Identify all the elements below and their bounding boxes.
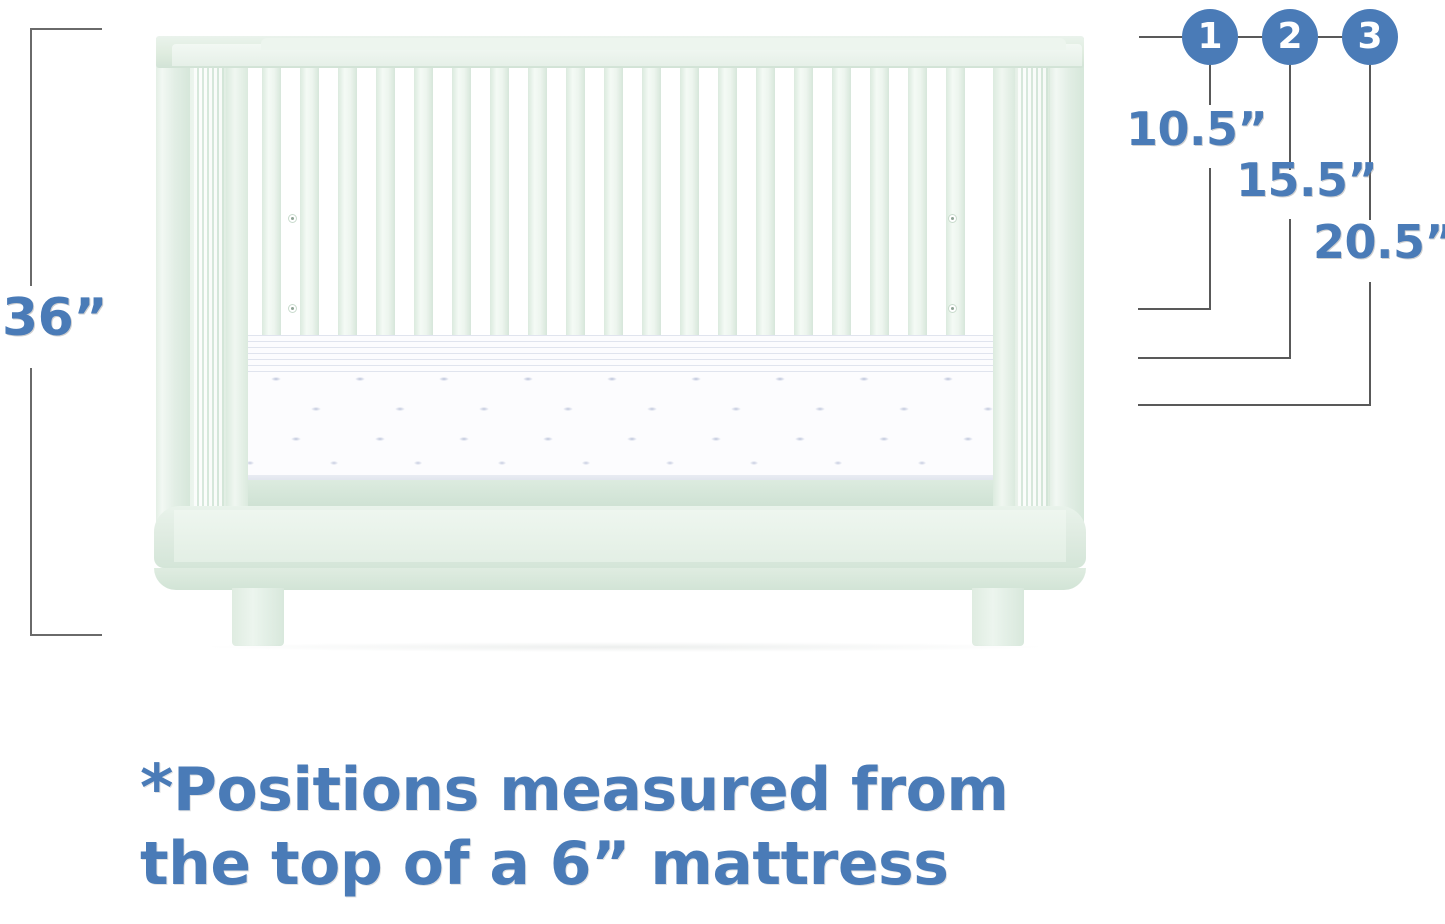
position-2-leader-vertical bbox=[1289, 219, 1291, 359]
crib-base-rail-seam bbox=[154, 568, 1086, 590]
footnote-line-2: the top of a 6” mattress bbox=[140, 829, 948, 899]
crib-leg-right bbox=[972, 588, 1024, 646]
position-1-drop-line bbox=[1209, 65, 1211, 105]
callout-connector-stub bbox=[1139, 36, 1183, 38]
crib-base-rail-inner bbox=[174, 510, 1066, 562]
crib-left-panel-grooves bbox=[194, 42, 224, 542]
crib-top-rail-back-edge bbox=[261, 38, 1066, 50]
mattress-height-screw-hole bbox=[288, 304, 297, 313]
crib-mattress bbox=[180, 335, 1060, 485]
position-marker-2[interactable]: 2 bbox=[1262, 9, 1318, 65]
position-1-value: 10.5” bbox=[1126, 106, 1267, 152]
position-marker-1[interactable]: 1 bbox=[1182, 9, 1238, 65]
position-1-leader-vertical bbox=[1209, 168, 1211, 310]
crib-illustration bbox=[150, 8, 1090, 648]
crib-ground-shadow bbox=[210, 642, 1040, 652]
height-dimension-upper-line bbox=[30, 28, 32, 286]
mattress-height-screw-hole bbox=[948, 304, 957, 313]
crib-leg-left bbox=[232, 588, 284, 646]
diagram-canvas: 36” 1 2 3 10.5” 15.5” 20.5” *Positions m… bbox=[0, 0, 1445, 924]
crib-right-panel-grooves bbox=[1018, 42, 1048, 542]
position-3-leader-vertical bbox=[1369, 282, 1371, 406]
footnote-line-1: Positions measured from bbox=[173, 755, 1008, 825]
position-1-leader-horizontal bbox=[1138, 308, 1211, 310]
height-dimension-bottom-tick bbox=[30, 634, 102, 636]
position-3-leader-horizontal bbox=[1138, 404, 1371, 406]
callout-connector-1-2 bbox=[1238, 36, 1263, 38]
position-2-value: 15.5” bbox=[1236, 157, 1377, 203]
height-dimension-top-tick bbox=[30, 28, 102, 30]
position-3-value: 20.5” bbox=[1313, 219, 1445, 265]
position-2-leader-horizontal bbox=[1138, 357, 1291, 359]
mattress-height-screw-hole bbox=[948, 214, 957, 223]
crib-right-outer-post bbox=[1050, 38, 1084, 558]
mattress-sheet-pattern bbox=[180, 365, 1060, 485]
crib-left-outer-post bbox=[156, 38, 190, 558]
mattress-support-rail bbox=[184, 480, 1056, 506]
crib-left-inner-post bbox=[226, 38, 248, 538]
callout-connector-2-3 bbox=[1318, 36, 1343, 38]
position-marker-3[interactable]: 3 bbox=[1342, 9, 1398, 65]
height-dimension-label: 36” bbox=[2, 292, 107, 344]
height-dimension-lower-line bbox=[30, 368, 32, 636]
crib-top-rail bbox=[156, 36, 1084, 68]
asterisk-icon: * bbox=[140, 752, 173, 826]
mattress-height-screw-hole bbox=[288, 214, 297, 223]
footnote: *Positions measured from the top of a 6”… bbox=[140, 752, 1140, 901]
crib-right-inner-post bbox=[993, 38, 1015, 538]
